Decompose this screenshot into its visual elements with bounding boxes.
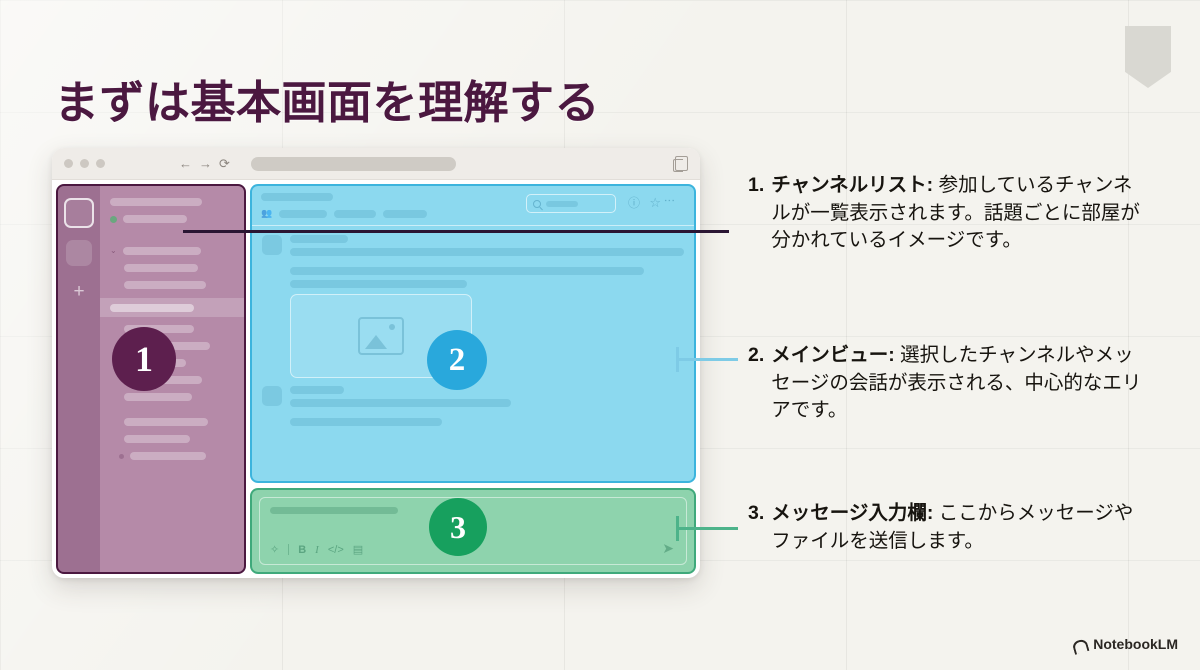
- message-text-placeholder: [290, 267, 644, 275]
- message-text-placeholder: [290, 399, 511, 407]
- annotation-2: 2. メインビュー: 選択したチャンネルやメッセージの会話が表示される、中心的な…: [748, 342, 1148, 425]
- notebooklm-footer: NotebookLM: [1072, 636, 1178, 652]
- annotation-3: 3. メッセージ入力欄: ここからメッセージやファイルを送信します。: [748, 500, 1148, 555]
- message-text-placeholder: [290, 280, 467, 288]
- avatar: [262, 386, 282, 406]
- user-name-placeholder: [123, 215, 187, 223]
- annotation-1: 1. チャンネルリスト: 参加しているチャンネルが一覧表示されます。話題ごとに部…: [748, 172, 1148, 255]
- search-input[interactable]: [526, 194, 616, 213]
- channel-item-placeholder[interactable]: [124, 281, 206, 289]
- message-text-placeholder: [290, 418, 442, 426]
- italic-button[interactable]: I: [315, 544, 319, 556]
- composer-placeholder-bar: [270, 507, 398, 514]
- channel-item-selected[interactable]: [100, 298, 244, 317]
- channel-tag-placeholder: [383, 210, 427, 218]
- attach-image-icon[interactable]: ▤: [353, 543, 363, 556]
- annotation-1-body: チャンネルリスト: 参加しているチャンネルが一覧表示されます。話題ごとに部屋が分…: [771, 172, 1148, 255]
- page-title: まずは基本画面を理解する: [54, 66, 600, 131]
- channel-meta-row: 👥: [261, 208, 685, 219]
- channel-item-placeholder[interactable]: [124, 435, 190, 443]
- connector-line-2: [676, 358, 738, 361]
- badge-2: 2: [427, 330, 487, 390]
- workspace-icon-secondary[interactable]: [66, 240, 92, 266]
- channel-title-placeholder: [261, 193, 333, 201]
- channel-tag-placeholder: [334, 210, 376, 218]
- traffic-light-minimize[interactable]: [80, 159, 89, 168]
- pennant-decoration: [1125, 26, 1171, 88]
- image-icon: [358, 317, 404, 355]
- connector-line-3: [676, 527, 738, 530]
- message-author-placeholder: [290, 235, 348, 243]
- browser-chrome: ← → ⟳: [52, 148, 700, 180]
- notebooklm-brand-label: NotebookLM: [1093, 636, 1178, 652]
- annotation-2-number: 2.: [748, 342, 764, 425]
- composer-toolbar: ✧ B I </> ▤: [270, 543, 363, 556]
- reload-icon[interactable]: ⟳: [219, 157, 230, 170]
- code-button[interactable]: </>: [328, 544, 344, 556]
- avatar: [262, 235, 282, 255]
- add-workspace-icon[interactable]: +: [73, 282, 84, 301]
- workspace-icon-active[interactable]: [64, 198, 94, 228]
- user-status-row[interactable]: [110, 215, 234, 223]
- annotation-3-label: メッセージ入力欄:: [771, 502, 933, 524]
- message-item: [262, 386, 684, 412]
- traffic-light-close[interactable]: [64, 159, 73, 168]
- chevron-down-icon[interactable]: ⌄: [110, 246, 117, 255]
- dm-status-dot: [119, 454, 124, 459]
- selected-channel-placeholder: [110, 304, 194, 312]
- send-icon[interactable]: ➤: [662, 540, 674, 557]
- toolbar-divider: [288, 544, 289, 555]
- workspace-rail: +: [58, 186, 100, 572]
- star-icon[interactable]: ☆: [649, 196, 661, 209]
- channel-item-placeholder[interactable]: [124, 418, 208, 426]
- annotation-3-body: メッセージ入力欄: ここからメッセージやファイルを送信します。: [771, 500, 1148, 555]
- message-lines: [290, 235, 684, 261]
- annotation-1-label: チャンネルリスト:: [771, 174, 933, 196]
- annotation-2-body: メインビュー: 選択したチャンネルやメッセージの会話が表示される、中心的なエリア…: [771, 342, 1148, 425]
- message-author-placeholder: [290, 386, 344, 394]
- channel-header: 👥 ⓘ ☆ ⋮: [252, 186, 694, 226]
- notebooklm-logo-icon: [1072, 637, 1087, 652]
- workspace-name-placeholder: [110, 198, 202, 206]
- back-arrow-icon[interactable]: ←: [179, 157, 192, 170]
- channel-item-placeholder[interactable]: [124, 393, 192, 401]
- search-icon: [533, 200, 541, 208]
- annotation-1-number: 1.: [748, 172, 764, 255]
- annotation-2-label: メインビュー:: [771, 344, 895, 366]
- bold-button[interactable]: B: [298, 544, 306, 556]
- connector-line-1: [183, 230, 729, 233]
- search-placeholder-bar: [546, 201, 578, 207]
- annotation-3-number: 3.: [748, 500, 764, 555]
- address-bar[interactable]: [251, 157, 456, 171]
- badge-1: 1: [112, 327, 176, 391]
- person-group-icon: 👥: [261, 208, 272, 219]
- traffic-light-maximize[interactable]: [96, 159, 105, 168]
- help-icon[interactable]: ⓘ: [628, 197, 640, 209]
- group-label-placeholder: [123, 247, 201, 255]
- channel-item-placeholder[interactable]: [124, 264, 198, 272]
- message-lines: [290, 386, 684, 412]
- member-count-placeholder: [279, 210, 327, 218]
- dm-item[interactable]: [110, 452, 234, 460]
- message-text-placeholder: [290, 248, 684, 256]
- forward-arrow-icon[interactable]: →: [199, 157, 212, 170]
- badge-3: 3: [429, 498, 487, 556]
- copy-tab-icon[interactable]: [675, 156, 688, 171]
- main-view-panel[interactable]: 👥 ⓘ ☆ ⋮: [250, 184, 696, 483]
- online-status-dot: [110, 216, 117, 223]
- channel-group-header[interactable]: ⌄: [110, 246, 234, 255]
- dm-name-placeholder: [130, 452, 206, 460]
- ai-sparkle-icon[interactable]: ✧: [270, 543, 279, 556]
- message-item: [262, 235, 684, 261]
- kebab-menu-icon[interactable]: ⋮: [663, 195, 674, 206]
